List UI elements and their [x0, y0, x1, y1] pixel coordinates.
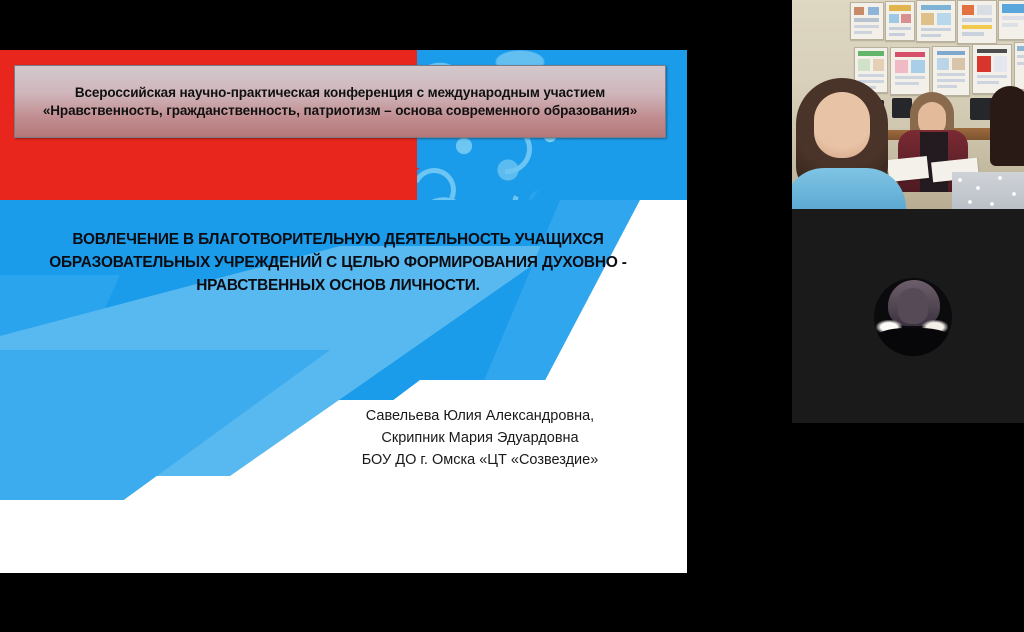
participant-tile-classroom[interactable]	[792, 0, 1024, 209]
wall-poster	[1014, 42, 1024, 90]
wall-poster	[916, 0, 956, 42]
slide-authors: Савельева Юлия Александровна, Скрипник М…	[300, 405, 660, 471]
person-right-clothing	[952, 172, 1024, 209]
conference-banner-text: Всероссийская научно-практическая конфер…	[15, 84, 665, 120]
person-right-background	[990, 86, 1024, 166]
wall-poster	[890, 47, 930, 95]
participant-strip[interactable]	[792, 0, 1024, 632]
author-line-1: Савельева Юлия Александровна,	[300, 405, 660, 427]
conference-banner: Всероссийская научно-практическая конфер…	[14, 65, 666, 138]
author-line-3: БОУ ДО г. Омска «ЦТ «Созвездие»	[300, 449, 660, 471]
avatar-shadow	[874, 328, 952, 356]
wall-poster	[932, 46, 970, 96]
wall-poster	[998, 0, 1024, 40]
monitor	[892, 98, 912, 118]
speaker-face	[814, 92, 870, 158]
participant-tile-dark[interactable]	[792, 209, 1024, 423]
shared-screen-stage[interactable]: Всероссийская научно-практическая конфер…	[0, 0, 792, 632]
participant-strip-empty-area	[792, 423, 1024, 632]
video-conference-window: Всероссийская научно-практическая конфер…	[0, 0, 1024, 632]
wall-poster	[850, 2, 884, 40]
slide-title: ВОВЛЕЧЕНИЕ В БЛАГОТВОРИТЕЛЬНУЮ ДЕЯТЕЛЬНО…	[28, 228, 648, 297]
avatar-face	[898, 288, 928, 324]
wall-poster	[957, 0, 997, 44]
wall-poster	[885, 1, 915, 41]
presentation-slide[interactable]: Всероссийская научно-практическая конфер…	[0, 50, 687, 573]
author-line-2: Скрипник Мария Эдуардовна	[300, 427, 660, 449]
avatar	[874, 278, 952, 356]
